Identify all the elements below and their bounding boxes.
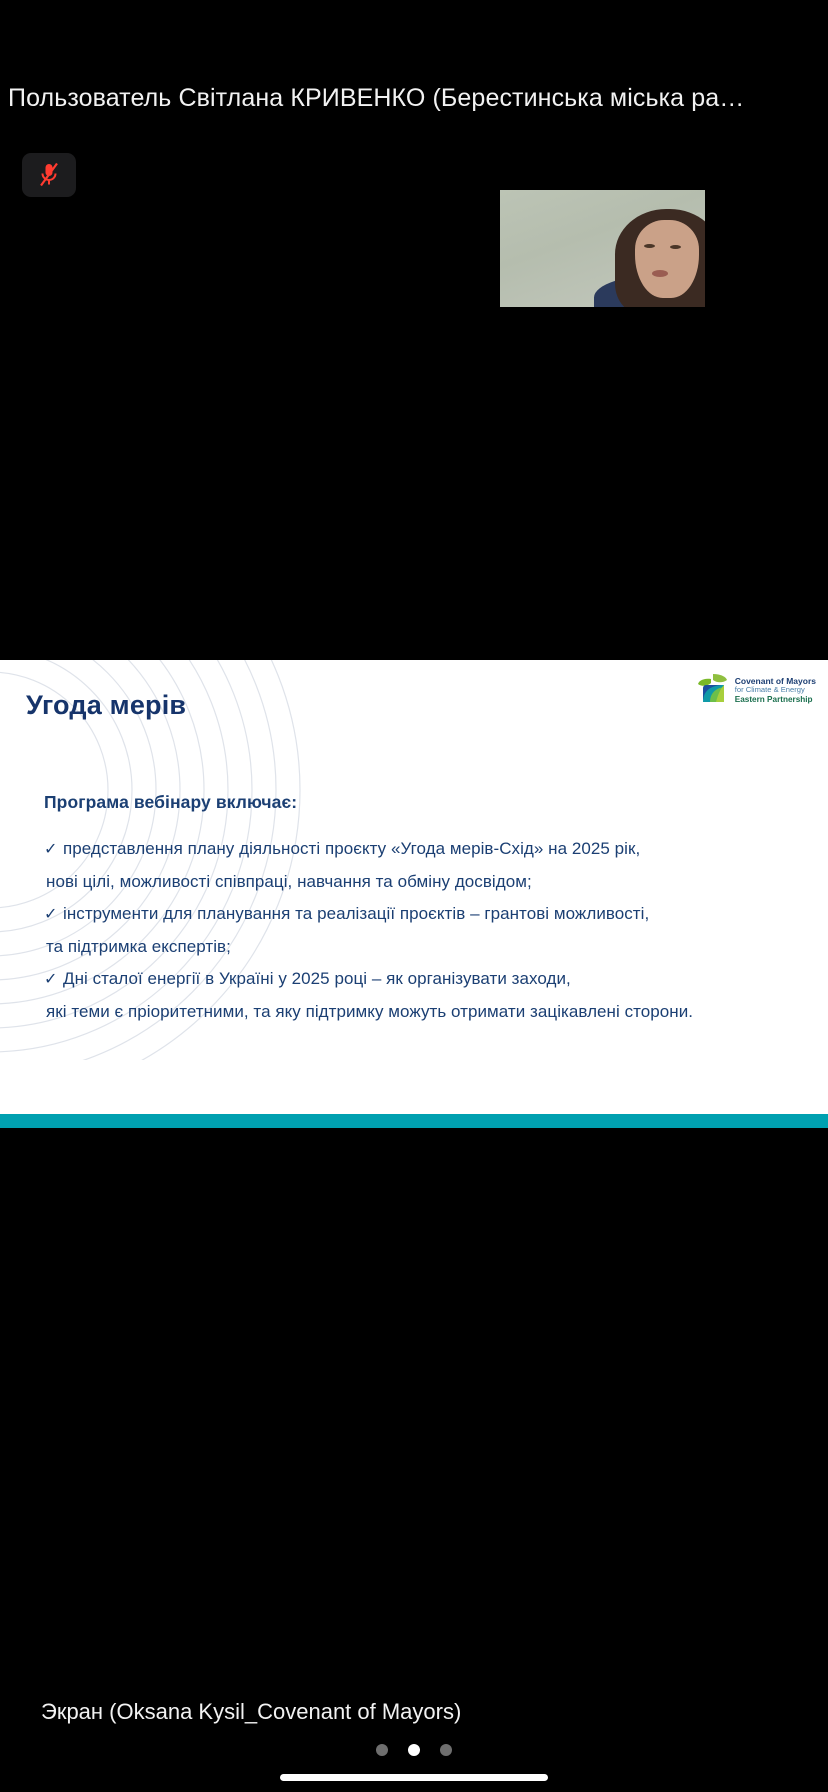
check-icon: ✓ <box>44 834 63 866</box>
home-indicator[interactable] <box>280 1774 548 1781</box>
video-person-mouth <box>652 270 668 277</box>
slide-footer-bar <box>0 1114 828 1128</box>
self-view-video-thumbnail[interactable] <box>500 190 705 307</box>
slide-bullet-1-line2-row: нові цілі, можливості співпраці, навчанн… <box>44 866 802 898</box>
video-person-face <box>635 220 699 297</box>
slide-bullet-2-line1: інструменти для планування та реалізації… <box>63 904 649 923</box>
video-person-eye-left <box>644 244 655 248</box>
video-call-screen: Пользователь Світлана КРИВЕНКО (Берестин… <box>0 0 828 1792</box>
participant-name-label: Пользователь Світлана КРИВЕНКО (Берестин… <box>8 78 820 118</box>
page-dot-1[interactable] <box>376 1744 388 1756</box>
page-indicator[interactable] <box>0 1744 828 1756</box>
slide-bullet-3-line2: які теми є пріоритетними, та яку підтрим… <box>46 1002 693 1021</box>
slide-bullet-3-line1: Дні сталої енергії в Україні у 2025 році… <box>63 969 571 988</box>
shared-screen-slide[interactable]: Угода мерів Covenant of Mayors for Clima… <box>0 660 828 1128</box>
slide-body: Програма вебінару включає: ✓представленн… <box>44 792 802 1028</box>
check-icon: ✓ <box>44 964 63 996</box>
slide-bullet-1: ✓представлення плану діяльності проєкту … <box>44 833 802 866</box>
slide-bullet-2-line2-row: та підтримка експертів; <box>44 931 802 963</box>
microphone-muted-icon <box>37 162 61 188</box>
microphone-muted-badge[interactable] <box>22 153 76 197</box>
logo-line-3: Eastern Partnership <box>735 695 816 704</box>
check-icon: ✓ <box>44 899 63 931</box>
slide-body-heading: Програма вебінару включає: <box>44 792 802 813</box>
slide-bullet-1-line2: нові цілі, можливості співпраці, навчанн… <box>46 872 532 891</box>
slide-bullet-2-line2: та підтримка експертів; <box>46 937 231 956</box>
slide-title: Угода мерів <box>26 690 186 721</box>
page-dot-3[interactable] <box>440 1744 452 1756</box>
slide-bullet-3-line2-row: які теми є пріоритетними, та яку підтрим… <box>44 996 802 1028</box>
logo-line-2: for Climate & Energy <box>735 686 816 695</box>
slide-bullet-1-line1: представлення плану діяльності проєкту «… <box>63 839 640 858</box>
covenant-of-mayors-leaf-icon <box>696 672 730 709</box>
screen-share-label: Экран (Oksana Kysil_Covenant of Mayors) <box>41 1697 461 1727</box>
covenant-of-mayors-logo: Covenant of Mayors for Climate & Energy … <box>696 672 816 709</box>
page-dot-2[interactable] <box>408 1744 420 1756</box>
slide-bullet-3: ✓Дні сталої енергії в Україні у 2025 роц… <box>44 963 802 996</box>
video-person-eye-right <box>670 245 681 249</box>
slide-bullet-2: ✓інструменти для планування та реалізаці… <box>44 898 802 931</box>
